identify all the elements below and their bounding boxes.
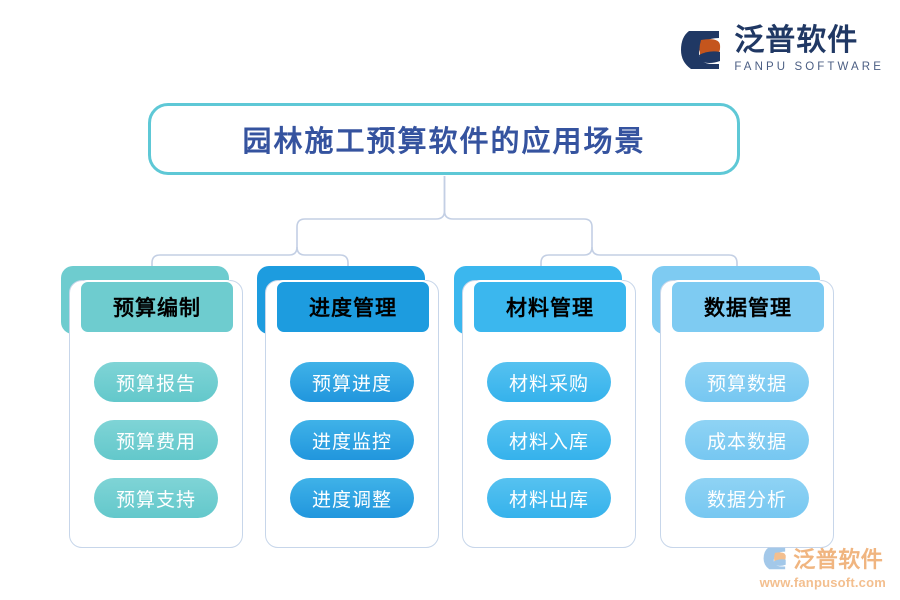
list-item-label: 预算报告 bbox=[116, 369, 196, 396]
list-item[interactable]: 进度监控 bbox=[290, 420, 414, 460]
brand-logo: 泛普软件 FANPU SOFTWARE bbox=[679, 26, 884, 74]
column-header: 材料管理 bbox=[472, 280, 628, 334]
list-item-label: 材料采购 bbox=[509, 369, 589, 396]
list-item-label: 进度监控 bbox=[312, 427, 392, 454]
list-item[interactable]: 材料采购 bbox=[487, 362, 611, 402]
category-columns: 预算编制 预算报告 预算费用 预算支持 进度管理 bbox=[0, 266, 900, 548]
watermark-name: 泛普软件 bbox=[793, 542, 883, 574]
list-item[interactable]: 预算费用 bbox=[94, 420, 218, 460]
column-header: 数据管理 bbox=[670, 280, 826, 334]
column-item-list: 材料采购 材料入库 材料出库 bbox=[462, 362, 636, 518]
category-column-progress[interactable]: 进度管理 预算进度 进度监控 进度调整 bbox=[257, 266, 439, 548]
column-item-list: 预算报告 预算费用 预算支持 bbox=[69, 362, 243, 518]
brand-name-cn: 泛普软件 bbox=[734, 26, 858, 56]
list-item[interactable]: 预算进度 bbox=[290, 362, 414, 402]
fanpu-logo-icon bbox=[679, 28, 725, 72]
column-header: 进度管理 bbox=[275, 280, 431, 334]
list-item-label: 预算费用 bbox=[116, 427, 196, 454]
list-item[interactable]: 成本数据 bbox=[685, 420, 809, 460]
list-item[interactable]: 材料入库 bbox=[487, 420, 611, 460]
column-header-label: 进度管理 bbox=[309, 292, 397, 322]
list-item[interactable]: 进度调整 bbox=[290, 478, 414, 518]
brand-wordmark: 泛普软件 FANPU SOFTWARE bbox=[734, 26, 884, 74]
fanpu-logo-icon bbox=[762, 546, 789, 571]
list-item[interactable]: 数据分析 bbox=[685, 478, 809, 518]
brand-name-en: FANPU SOFTWARE bbox=[734, 62, 884, 74]
column-header: 预算编制 bbox=[79, 280, 235, 334]
column-header-label: 预算编制 bbox=[113, 292, 201, 322]
list-item[interactable]: 预算支持 bbox=[94, 478, 218, 518]
watermark: 泛普软件 www.fanpusoft.com bbox=[760, 542, 886, 590]
category-column-data[interactable]: 数据管理 预算数据 成本数据 数据分析 bbox=[652, 266, 834, 548]
list-item-label: 材料入库 bbox=[509, 427, 589, 454]
list-item[interactable]: 预算数据 bbox=[685, 362, 809, 402]
watermark-url: www.fanpusoft.com bbox=[760, 575, 886, 590]
column-header-label: 数据管理 bbox=[704, 292, 792, 322]
list-item[interactable]: 材料出库 bbox=[487, 478, 611, 518]
diagram-canvas: 泛普软件 FANPU SOFTWARE 园林施工预算软件的应用场景 预算编制 bbox=[0, 0, 900, 600]
list-item-label: 成本数据 bbox=[707, 427, 787, 454]
column-header-label: 材料管理 bbox=[506, 292, 594, 322]
list-item-label: 材料出库 bbox=[509, 485, 589, 512]
list-item-label: 进度调整 bbox=[312, 485, 392, 512]
list-item[interactable]: 预算报告 bbox=[94, 362, 218, 402]
category-column-budget[interactable]: 预算编制 预算报告 预算费用 预算支持 bbox=[61, 266, 243, 548]
page-title: 园林施工预算软件的应用场景 bbox=[242, 118, 645, 160]
category-column-material[interactable]: 材料管理 材料采购 材料入库 材料出库 bbox=[454, 266, 636, 548]
list-item-label: 预算进度 bbox=[312, 369, 392, 396]
diagram-title-box: 园林施工预算软件的应用场景 bbox=[148, 103, 740, 175]
column-item-list: 预算进度 进度监控 进度调整 bbox=[265, 362, 439, 518]
list-item-label: 数据分析 bbox=[707, 485, 787, 512]
list-item-label: 预算支持 bbox=[116, 485, 196, 512]
column-item-list: 预算数据 成本数据 数据分析 bbox=[660, 362, 834, 518]
list-item-label: 预算数据 bbox=[707, 369, 787, 396]
watermark-row: 泛普软件 bbox=[762, 542, 883, 574]
